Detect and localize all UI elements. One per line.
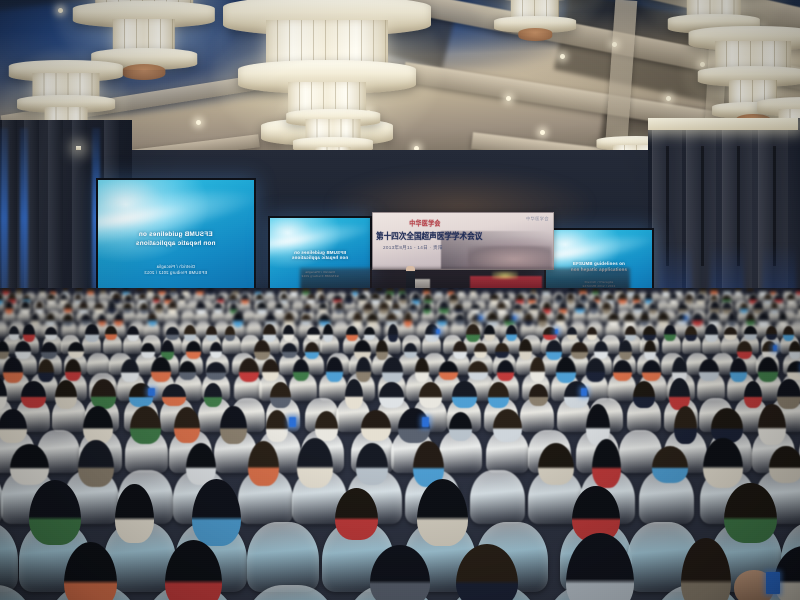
audience-member — [453, 341, 467, 359]
audience-member — [63, 314, 72, 326]
audience-member — [770, 288, 776, 295]
audience-member — [662, 288, 668, 296]
audience-member — [15, 341, 31, 359]
audience-member — [283, 325, 294, 341]
audience-member — [735, 288, 741, 295]
audience-member — [594, 341, 608, 359]
audience-member — [404, 343, 417, 358]
attendee-phone-screen — [148, 388, 154, 396]
banner-calligraphy: 中华医学会 — [377, 217, 473, 227]
audience-member — [471, 304, 480, 313]
audience-member — [771, 302, 779, 314]
audience-member — [669, 378, 690, 410]
audience-member — [567, 293, 575, 304]
audience-member — [740, 303, 748, 314]
audience-member — [744, 326, 757, 340]
audience-member — [353, 312, 362, 328]
audience-member — [148, 313, 157, 327]
attendee-phone-screen — [479, 316, 482, 320]
audience-member — [530, 357, 545, 382]
audience-member — [233, 312, 243, 326]
audience-member — [538, 312, 546, 327]
audience-member — [186, 341, 201, 359]
downlight — [666, 96, 671, 101]
attendee-phone-screen — [436, 329, 439, 334]
audience-member — [415, 358, 430, 382]
audience-member — [452, 381, 477, 409]
audience-member — [474, 343, 487, 359]
audience-member — [281, 293, 288, 304]
audience-member — [664, 325, 676, 341]
audience-member — [529, 384, 548, 406]
audience-member — [319, 303, 327, 314]
audience-member — [625, 326, 636, 341]
audience-member — [379, 382, 404, 408]
audience-member — [105, 326, 116, 340]
audience-member — [266, 288, 273, 295]
audience-member — [404, 312, 413, 327]
audience-member — [220, 406, 246, 445]
audience-member — [649, 303, 658, 314]
audience-member — [79, 302, 88, 314]
audience-member — [174, 407, 200, 443]
audience-member — [764, 294, 772, 304]
audience-member — [123, 303, 131, 314]
audience-member — [68, 342, 84, 358]
audience-member — [458, 288, 464, 295]
audience-member — [670, 293, 676, 305]
audience-member — [449, 294, 457, 305]
audience-member — [580, 294, 587, 304]
audience-member — [696, 294, 705, 303]
audience-member — [225, 326, 236, 341]
audience-member — [758, 404, 785, 445]
downlight — [612, 42, 617, 47]
audience-member — [60, 294, 67, 303]
audience-chair — [87, 353, 110, 376]
audience-member — [692, 313, 703, 327]
audience-member — [5, 301, 13, 314]
audience-member — [214, 303, 222, 313]
audience-member — [179, 361, 196, 380]
audience-member — [787, 294, 795, 304]
wall-sconce — [76, 146, 81, 150]
audience-member — [454, 304, 463, 313]
attendee-phone-screen — [581, 388, 587, 396]
attendee-phone-screen — [555, 329, 558, 334]
wall-cornice-light — [648, 118, 798, 130]
audience-member — [39, 288, 46, 295]
audience-member — [282, 343, 297, 359]
audience-member — [484, 325, 494, 341]
audience-member — [140, 303, 148, 314]
audience-member — [468, 361, 489, 380]
audience-member — [141, 343, 155, 359]
chandelier-upper-right — [470, 0, 600, 58]
audience-member — [758, 357, 779, 382]
audience-member — [516, 294, 525, 303]
audience-member — [437, 314, 447, 326]
audience-member — [45, 327, 57, 340]
audience-member — [439, 361, 458, 380]
audience-member — [326, 357, 343, 382]
audience-member — [633, 303, 643, 314]
audience-member — [262, 359, 279, 382]
audience-member — [315, 411, 338, 441]
audience-member — [335, 302, 342, 313]
audience-member — [147, 288, 153, 296]
audience-member — [379, 302, 389, 313]
audience-member — [685, 294, 693, 304]
audience-member — [125, 295, 132, 304]
audience-member — [257, 302, 267, 314]
audience-member — [412, 293, 420, 305]
audience-member — [206, 362, 226, 380]
audience-member — [38, 359, 54, 382]
audience-member — [388, 324, 398, 341]
audience-member — [602, 302, 612, 314]
audience-member — [542, 288, 550, 295]
audience-member — [439, 301, 448, 314]
audience-member — [356, 357, 372, 382]
audience-member — [16, 288, 22, 295]
audience-member — [633, 381, 655, 408]
audience-member — [455, 314, 465, 325]
downlight — [196, 120, 201, 125]
slide-title: EFSUMB guidelines on non hepatic applica… — [107, 231, 244, 248]
slide-title: EFSUMB guidelines on non hepatic applica… — [276, 250, 364, 262]
audience-member — [9, 326, 19, 340]
audience-member — [497, 302, 507, 313]
audience-member — [737, 341, 752, 358]
audience-member — [703, 438, 742, 489]
audience-member — [3, 357, 23, 383]
audience-member — [158, 288, 166, 295]
audience-member — [307, 294, 315, 303]
audience-member — [613, 360, 631, 381]
audience-member — [618, 293, 627, 304]
audience-member — [323, 324, 333, 342]
audience-member — [674, 406, 697, 444]
audience-member — [519, 339, 531, 360]
slide-subtitle: Dietrich / Piscaglia EFSUMB Freiburg 201… — [107, 264, 244, 275]
audience-member — [206, 326, 217, 341]
audience-member — [121, 359, 139, 382]
audience-member — [608, 313, 619, 326]
audience-member — [162, 384, 186, 407]
audience-member — [297, 438, 333, 488]
audience-member — [241, 294, 249, 303]
audience-member — [495, 343, 509, 359]
audience-member — [155, 303, 163, 313]
audience-member — [301, 314, 311, 325]
audience-member — [170, 288, 176, 296]
audience-member — [196, 302, 206, 314]
audience-member — [270, 382, 291, 408]
attendee-phone-screen — [766, 572, 780, 594]
audience-member — [587, 327, 597, 340]
audience-member — [91, 379, 116, 409]
audience-member — [409, 304, 417, 313]
audience-member — [108, 301, 116, 314]
audience-member — [787, 361, 800, 380]
audience-member — [567, 327, 577, 340]
audience-member — [675, 288, 682, 295]
audience-member — [556, 357, 576, 383]
audience-member — [210, 342, 222, 358]
audience-member — [513, 304, 521, 313]
audience-member — [490, 294, 499, 304]
banner-date-line: 2013年8月11 - 14日 · 贵阳 — [383, 245, 503, 251]
audience-member — [114, 313, 123, 326]
audience-member — [151, 357, 171, 382]
banner-title: 第十四次全国超声医学学术会议 — [376, 230, 516, 242]
audience-member — [592, 288, 599, 295]
audience-member — [217, 295, 224, 303]
audience-member — [586, 358, 605, 381]
audience-member — [619, 340, 632, 360]
audience-member — [640, 313, 648, 327]
audience-member — [746, 313, 755, 326]
audience-member — [796, 288, 800, 295]
presenter-at-podium — [406, 266, 415, 288]
attendee-phone-screen — [773, 345, 777, 350]
audience-member — [85, 324, 99, 341]
audience-member — [783, 326, 794, 341]
audience-member — [705, 324, 718, 341]
audience-member — [64, 303, 73, 313]
attendee-phone-screen — [422, 417, 430, 427]
downlight — [540, 130, 545, 135]
attendee-phone-screen — [513, 316, 516, 320]
chandelier-amber — [122, 64, 165, 80]
audience-member — [263, 324, 276, 341]
audience-member — [652, 446, 689, 483]
audience-member — [493, 409, 522, 442]
audience-member — [78, 440, 114, 487]
audience-member — [192, 479, 241, 546]
audience-member — [184, 325, 196, 341]
audience-member — [127, 326, 139, 341]
audience-member — [345, 379, 363, 409]
attendee-phone-screen — [289, 417, 297, 427]
conference-hall-photo: EFSUMB guidelines on non hepatic applica… — [0, 0, 800, 600]
conference-stage-banner: 中华医学会 第十四次全国超声医学学术会议 2013年8月11 - 14日 · 贵… — [372, 212, 554, 270]
audience-member — [207, 288, 213, 295]
audience-member — [382, 357, 403, 383]
audience-chair — [0, 522, 18, 592]
audience-member — [728, 312, 736, 328]
audience-member — [364, 327, 374, 341]
banner-logo: 中华医学会 — [526, 216, 549, 222]
audience-member — [399, 293, 408, 305]
audience-member — [678, 304, 687, 313]
audience-member — [290, 288, 298, 296]
audience-member — [723, 288, 731, 295]
audience-member — [36, 301, 44, 314]
downlight — [506, 96, 511, 101]
screen-background: EFSUMB guidelines on non hepatic applica… — [98, 180, 254, 294]
audience-member — [556, 313, 565, 326]
audience-member — [724, 327, 737, 339]
floral-arrangement — [492, 271, 518, 279]
audience-chair — [247, 522, 319, 592]
audience-member — [275, 303, 283, 314]
audience-member — [777, 379, 800, 409]
audience-member — [21, 301, 31, 314]
audience-member — [47, 294, 55, 303]
attendee-raising-phone — [726, 570, 800, 600]
audience-chair — [470, 470, 525, 524]
audience-member — [345, 294, 353, 304]
audience-member — [305, 342, 319, 359]
audience-member — [529, 304, 539, 313]
audience-member — [506, 325, 517, 341]
audience-member — [711, 408, 743, 442]
audience-member — [685, 326, 697, 341]
audience-member — [122, 288, 130, 295]
audience-member — [363, 303, 373, 314]
audience-member — [307, 327, 320, 340]
audience-member — [87, 288, 95, 295]
audience-member — [571, 342, 588, 359]
audience-member — [46, 313, 55, 326]
audience-member — [436, 288, 442, 295]
audience-member — [356, 443, 388, 485]
audience-member — [575, 303, 585, 313]
audience-member — [699, 359, 719, 382]
audience-member — [371, 293, 380, 305]
audience-member — [361, 410, 391, 441]
audience-member — [643, 326, 656, 341]
audience-member — [769, 446, 800, 483]
audience-member — [196, 288, 204, 295]
audience-member — [94, 303, 104, 313]
seated-audience — [0, 288, 800, 600]
audience-member — [546, 340, 562, 359]
audience-member — [758, 312, 769, 326]
projection-screen-left: EFSUMB guidelines on non hepatic applica… — [96, 178, 256, 296]
audience-member — [166, 327, 179, 339]
audience-member — [423, 303, 431, 314]
audience-member — [789, 341, 800, 359]
audience-member — [528, 294, 536, 304]
audience-member — [766, 326, 777, 340]
audience-member — [21, 381, 46, 407]
audience-member — [590, 301, 599, 314]
audience-member — [644, 340, 656, 360]
